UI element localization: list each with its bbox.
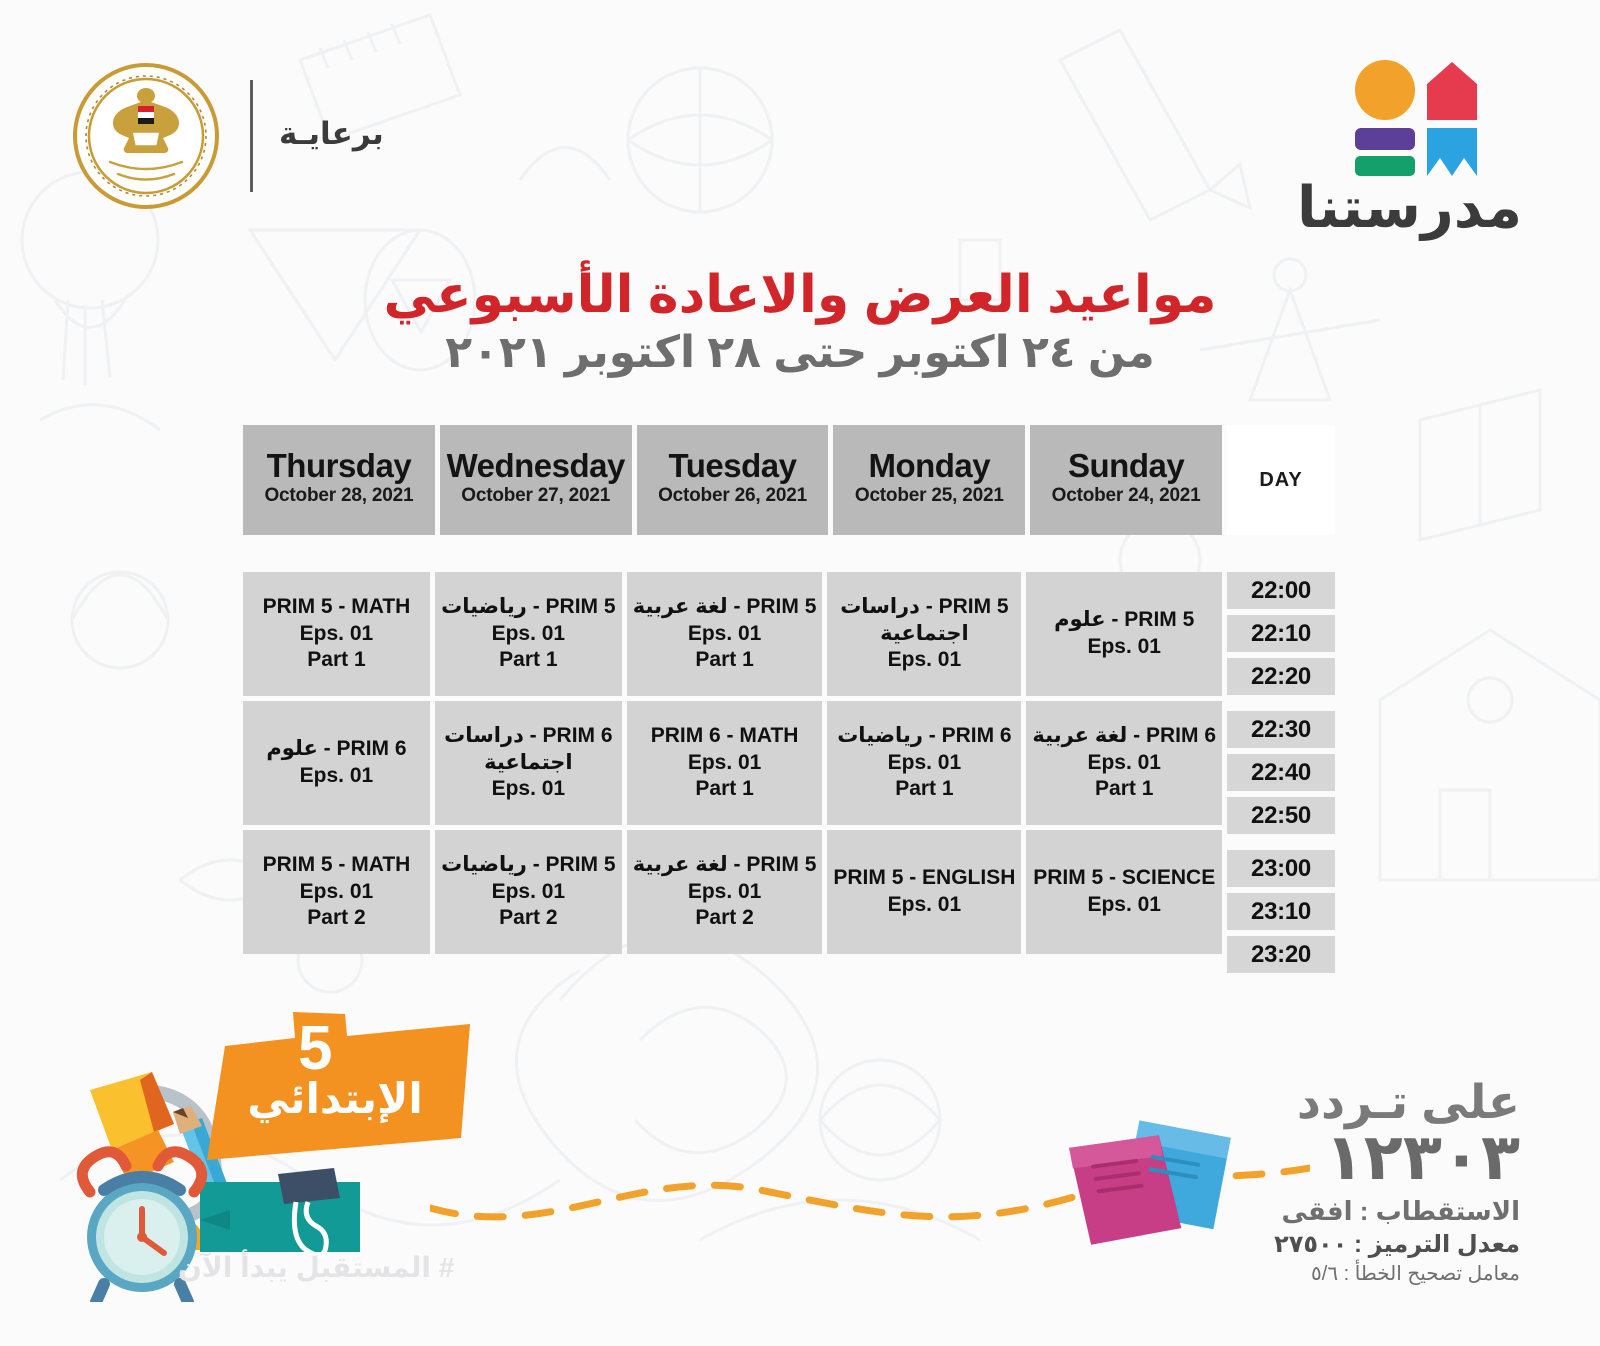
- program-text-line: Part 1: [307, 647, 365, 674]
- program-text-line: Eps. 01: [888, 647, 962, 674]
- grade-badge-number: 5: [298, 1018, 332, 1080]
- program-text-line: Part 1: [895, 776, 953, 803]
- day-header-sunday: SundayOctober 24, 2021: [1030, 425, 1222, 535]
- program-cell: PRIM 5 - ENGLISHEps. 01: [827, 830, 1021, 954]
- program-cell: PRIM 6 - دراساتاجتماعيةEps. 01: [435, 701, 622, 825]
- frequency-info-block: على تـردد ١٢٣٠٣ الاستقطاب : افقى معدل ال…: [1274, 1077, 1520, 1288]
- program-text-line: Part 2: [695, 905, 753, 932]
- program-column-tuesday: PRIM 5 - لغة عربيةEps. 01Part 1PRIM 6 - …: [627, 572, 823, 973]
- logo-house-shape: [1427, 62, 1477, 120]
- page-title: مواعيد العرض والاعادة الأسبوعي: [0, 266, 1600, 324]
- program-text-line: PRIM 5 - رياضيات: [441, 594, 615, 621]
- program-cell: PRIM 5 - علومEps. 01: [1026, 572, 1222, 696]
- program-text-line: Eps. 01: [1087, 634, 1161, 661]
- program-cell: PRIM 5 - لغة عربيةEps. 01Part 1: [627, 572, 823, 696]
- day-name: Sunday: [1068, 449, 1184, 484]
- time-slot: 23:10: [1227, 893, 1335, 930]
- program-text-line: Eps. 01: [1087, 892, 1161, 919]
- program-text-line: PRIM 5 - لغة عربية: [633, 594, 817, 621]
- program-text-line: PRIM 5 - دراسات: [840, 594, 1008, 621]
- day-headers: SundayOctober 24, 2021MondayOctober 25, …: [243, 425, 1222, 535]
- day-date: October 28, 2021: [264, 485, 413, 507]
- program-cell: PRIM 5 - MATHEps. 01Part 1: [243, 572, 430, 696]
- program-text-line: اجتماعية: [880, 621, 969, 648]
- program-text-line: Eps. 01: [688, 750, 762, 777]
- ministry-seal-icon: [72, 62, 220, 210]
- program-text-line: Eps. 01: [492, 776, 566, 803]
- program-text-line: Eps. 01: [888, 750, 962, 777]
- program-text-line: Part 1: [1095, 776, 1153, 803]
- day-date: October 26, 2021: [658, 485, 807, 507]
- day-header-tuesday: TuesdayOctober 26, 2021: [637, 425, 829, 535]
- day-header-wednesday: WednesdayOctober 27, 2021: [440, 425, 632, 535]
- patronage-label: برعايـة: [279, 116, 384, 156]
- frequency-symbol-rate: معدل الترميز : ٢٧٥٠٠: [1274, 1229, 1520, 1261]
- frequency-fec: معامل تصحيح الخطأ : ٥/٦: [1274, 1261, 1520, 1288]
- schedule-header-row: DAY SundayOctober 24, 2021MondayOctober …: [243, 425, 1335, 535]
- program-cell: PRIM 5 - رياضياتEps. 01Part 2: [435, 830, 622, 954]
- frequency-heading: على تـردد: [1274, 1077, 1520, 1126]
- program-cell: PRIM 6 - لغة عربيةEps. 01Part 1: [1026, 701, 1222, 825]
- program-text-line: Eps. 01: [688, 621, 762, 648]
- program-text-line: Eps. 01: [888, 892, 962, 919]
- program-text-line: Part 1: [695, 776, 753, 803]
- time-column: 22:0022:1022:2022:3022:4022:5023:0023:10…: [1227, 572, 1335, 973]
- program-text-line: Eps. 01: [300, 763, 374, 790]
- time-slot: 22:10: [1227, 615, 1335, 652]
- brand-block: مدرستنا: [1312, 58, 1522, 237]
- program-text-line: PRIM 5 - MATH: [263, 852, 411, 879]
- program-text-line: Eps. 01: [300, 879, 374, 906]
- future-slogan-watermark: # المستقبل يبدأ الآن: [178, 1251, 454, 1284]
- ministry-patronage-block: برعايـة: [72, 62, 384, 210]
- page-subtitle: من ٢٤ اكتوبر حتى ٢٨ اكتوبر ٢٠٢١: [0, 328, 1600, 379]
- time-slot: 23:00: [1227, 850, 1335, 887]
- logo-purple-bar: [1355, 128, 1415, 150]
- program-text-line: PRIM 6 - MATH: [651, 723, 799, 750]
- day-header-monday: MondayOctober 25, 2021: [833, 425, 1025, 535]
- title-area: مواعيد العرض والاعادة الأسبوعي من ٢٤ اكت…: [0, 266, 1600, 379]
- program-cell: PRIM 5 - رياضياتEps. 01Part 1: [435, 572, 622, 696]
- madrasatna-logo-icon: [1337, 58, 1497, 178]
- program-text-line: PRIM 5 - MATH: [263, 594, 411, 621]
- time-slot: 22:40: [1227, 754, 1335, 791]
- grade-badge-area: 5 الإبتدائي # المستقبل يبدأ الآن: [60, 1010, 490, 1310]
- program-text-line: Eps. 01: [300, 621, 374, 648]
- schedule-table: DAY SundayOctober 24, 2021MondayOctober …: [243, 425, 1335, 973]
- day-name: Thursday: [267, 449, 412, 484]
- program-grid: PRIM 5 - علومEps. 01PRIM 6 - لغة عربيةEp…: [243, 572, 1222, 973]
- logo-blue-shape: [1427, 128, 1477, 176]
- frequency-polarization: الاستقطاب : افقى: [1274, 1194, 1520, 1229]
- time-slot: 22:30: [1227, 711, 1335, 748]
- grade-badge-label: الإبتدائي: [220, 1078, 450, 1120]
- program-text-line: PRIM 6 - لغة عربية: [1032, 723, 1216, 750]
- schedule-body: 22:0022:1022:2022:3022:4022:5023:0023:10…: [243, 572, 1335, 973]
- day-date: October 25, 2021: [855, 485, 1004, 507]
- program-cell: PRIM 5 - SCIENCEEps. 01: [1026, 830, 1222, 954]
- time-slot: 23:20: [1227, 936, 1335, 973]
- program-text-line: Part 1: [499, 647, 557, 674]
- program-cell: PRIM 5 - لغة عربيةEps. 01Part 2: [627, 830, 823, 954]
- program-text-line: Eps. 01: [688, 879, 762, 906]
- program-cell: PRIM 6 - علومEps. 01: [243, 701, 430, 825]
- program-text-line: PRIM 6 - علوم: [266, 736, 406, 763]
- program-text-line: PRIM 5 - ENGLISH: [833, 865, 1015, 892]
- program-cell: PRIM 5 - MATHEps. 01Part 2: [243, 830, 430, 954]
- program-text-line: PRIM 6 - دراسات: [444, 723, 612, 750]
- time-slot: 22:00: [1227, 572, 1335, 609]
- program-text-line: اجتماعية: [484, 750, 573, 777]
- program-column-sunday: PRIM 5 - علومEps. 01PRIM 6 - لغة عربيةEp…: [1026, 572, 1222, 973]
- program-column-thursday: PRIM 5 - MATHEps. 01Part 1PRIM 6 - علومE…: [243, 572, 430, 973]
- program-text-line: PRIM 5 - SCIENCE: [1033, 865, 1215, 892]
- day-column-header: DAY: [1227, 425, 1335, 535]
- program-cell: PRIM 5 - دراساتاجتماعيةEps. 01: [827, 572, 1021, 696]
- logo-green-bar: [1355, 156, 1415, 176]
- infographic-page: برعايـة مدرستنا مواعيد العرض والاعادة ال…: [0, 0, 1600, 1346]
- program-cell: PRIM 6 - MATHEps. 01Part 1: [627, 701, 823, 825]
- day-name: Tuesday: [669, 449, 797, 484]
- program-text-line: PRIM 6 - رياضيات: [837, 723, 1011, 750]
- program-text-line: PRIM 5 - رياضيات: [441, 852, 615, 879]
- header: برعايـة مدرستنا: [0, 0, 1600, 250]
- program-column-wednesday: PRIM 5 - رياضياتEps. 01Part 1PRIM 6 - در…: [435, 572, 622, 973]
- time-slot: 22:20: [1227, 658, 1335, 695]
- erasers-illustration: [1035, 1102, 1250, 1262]
- program-text-line: Eps. 01: [492, 621, 566, 648]
- program-text-line: Eps. 01: [492, 879, 566, 906]
- logo-circle-shape: [1355, 60, 1415, 120]
- program-text-line: Part 2: [307, 905, 365, 932]
- program-column-monday: PRIM 5 - دراساتاجتماعيةEps. 01PRIM 6 - ر…: [827, 572, 1021, 973]
- program-text-line: PRIM 5 - لغة عربية: [633, 852, 817, 879]
- program-text-line: Eps. 01: [1087, 750, 1161, 777]
- patronage-divider: [250, 80, 253, 192]
- brand-name: مدرستنا: [1312, 180, 1522, 237]
- program-text-line: Part 2: [499, 905, 557, 932]
- day-name: Monday: [868, 449, 990, 484]
- day-name: Wednesday: [447, 449, 625, 484]
- day-date: October 27, 2021: [461, 485, 610, 507]
- frequency-number: ١٢٣٠٣: [1274, 1124, 1520, 1191]
- day-date: October 24, 2021: [1052, 485, 1201, 507]
- day-header-thursday: ThursdayOctober 28, 2021: [243, 425, 435, 535]
- program-cell: PRIM 6 - رياضياتEps. 01Part 1: [827, 701, 1021, 825]
- program-text-line: Part 1: [695, 647, 753, 674]
- time-slot: 22:50: [1227, 797, 1335, 834]
- program-text-line: PRIM 5 - علوم: [1054, 607, 1194, 634]
